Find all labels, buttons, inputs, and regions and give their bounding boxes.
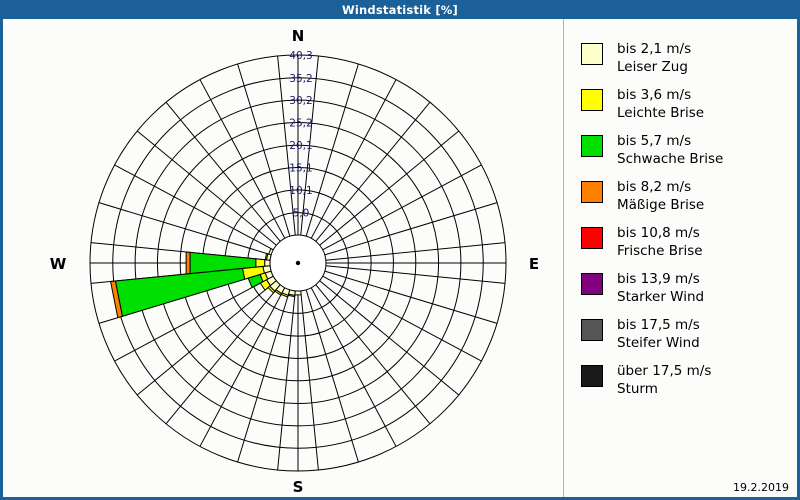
legend-beaufort-name: Sturm [617,381,711,399]
legend-color-swatch [581,319,603,341]
windrose-petal-segment [265,260,270,267]
grid-spoke [306,64,358,236]
legend-item: über 17,5 m/sSturm [581,363,711,399]
radial-tick-label: 5,0 [293,208,310,220]
legend-label: bis 3,6 m/sLeichte Brise [617,87,704,123]
legend-color-swatch [581,227,603,249]
legend-color-swatch [581,135,603,157]
legend-label: bis 5,7 m/sSchwache Brise [617,133,723,169]
legend-speed-range: über 17,5 m/s [617,363,711,381]
legend-label: bis 13,9 m/sStarker Wind [617,271,704,307]
legend-beaufort-name: Leiser Zug [617,59,691,77]
legend-beaufort-name: Frische Brise [617,243,703,261]
window-titlebar: Windstatistik [%] [0,0,800,19]
grid-spoke [238,64,290,236]
legend-item: bis 8,2 m/sMäßige Brise [581,179,704,215]
grid-spoke [325,271,497,323]
windrose-petal-segment [186,252,190,274]
legend-item: bis 17,5 m/sSteifer Wind [581,317,700,353]
legend-beaufort-name: Steifer Wind [617,335,700,353]
legend-label: über 17,5 m/sSturm [617,363,711,399]
radial-tick-label: 30,2 [289,95,312,107]
window-title: Windstatistik [%] [342,3,458,17]
legend-label: bis 17,5 m/sSteifer Wind [617,317,700,353]
radial-tick-label: 40,3 [289,50,312,62]
legend-item: bis 3,6 m/sLeichte Brise [581,87,704,123]
legend-color-swatch [581,89,603,111]
legend-item: bis 2,1 m/sLeiser Zug [581,41,691,77]
grid-spoke [238,290,290,462]
compass-label-north: N [292,27,305,45]
compass-label-south: S [293,478,304,496]
radial-tick-label: 15,1 [289,163,312,175]
legend-speed-range: bis 2,1 m/s [617,41,691,59]
legend-color-swatch [581,43,603,65]
legend-item: bis 10,8 m/sFrische Brise [581,225,703,261]
radial-tick-labels: 5,010,115,120,125,230,235,240,3 [289,50,312,220]
radial-tick-label: 25,2 [289,117,312,129]
legend-speed-range: bis 8,2 m/s [617,179,704,197]
legend-speed-range: bis 3,6 m/s [617,87,704,105]
legend-speed-range: bis 17,5 m/s [617,317,700,335]
grid-spoke [325,203,497,255]
legend-beaufort-name: Schwache Brise [617,151,723,169]
compass-label-west: W [50,255,67,273]
legend-color-swatch [581,365,603,387]
legend-beaufort-name: Leichte Brise [617,105,704,123]
legend-color-swatch [581,273,603,295]
calm-circle [270,235,326,291]
legend-speed-range: bis 13,9 m/s [617,271,704,289]
radial-tick-label: 20,1 [289,140,312,152]
window-client-area: 5,010,115,120,125,230,235,240,3 N S W E … [3,19,797,497]
legend-speed-range: bis 5,7 m/s [617,133,723,151]
legend-beaufort-name: Mäßige Brise [617,197,704,215]
legend: bis 2,1 m/sLeiser Zugbis 3,6 m/sLeichte … [563,19,797,497]
radial-tick-label: 35,2 [289,73,312,85]
legend-label: bis 2,1 m/sLeiser Zug [617,41,691,77]
legend-speed-range: bis 10,8 m/s [617,225,703,243]
legend-label: bis 8,2 m/sMäßige Brise [617,179,704,215]
compass-label-east: E [529,255,539,273]
legend-label: bis 10,8 m/sFrische Brise [617,225,703,261]
grid-spoke [99,203,271,255]
legend-item: bis 13,9 m/sStarker Wind [581,271,704,307]
centre-dot [296,261,300,265]
window-frame: Windstatistik [%] 5,010,115,120,125,230,… [0,0,800,500]
grid-spoke [306,290,358,462]
windrose-svg: 5,010,115,120,125,230,235,240,3 N S W E [3,19,563,497]
legend-color-swatch [581,181,603,203]
windrose-petal-segment [115,268,244,316]
legend-beaufort-name: Starker Wind [617,289,704,307]
date-stamp: 19.2.2019 [733,481,789,494]
windrose-chart: 5,010,115,120,125,230,235,240,3 N S W E [3,19,563,497]
legend-item: bis 5,7 m/sSchwache Brise [581,133,723,169]
radial-tick-label: 10,1 [289,185,312,197]
